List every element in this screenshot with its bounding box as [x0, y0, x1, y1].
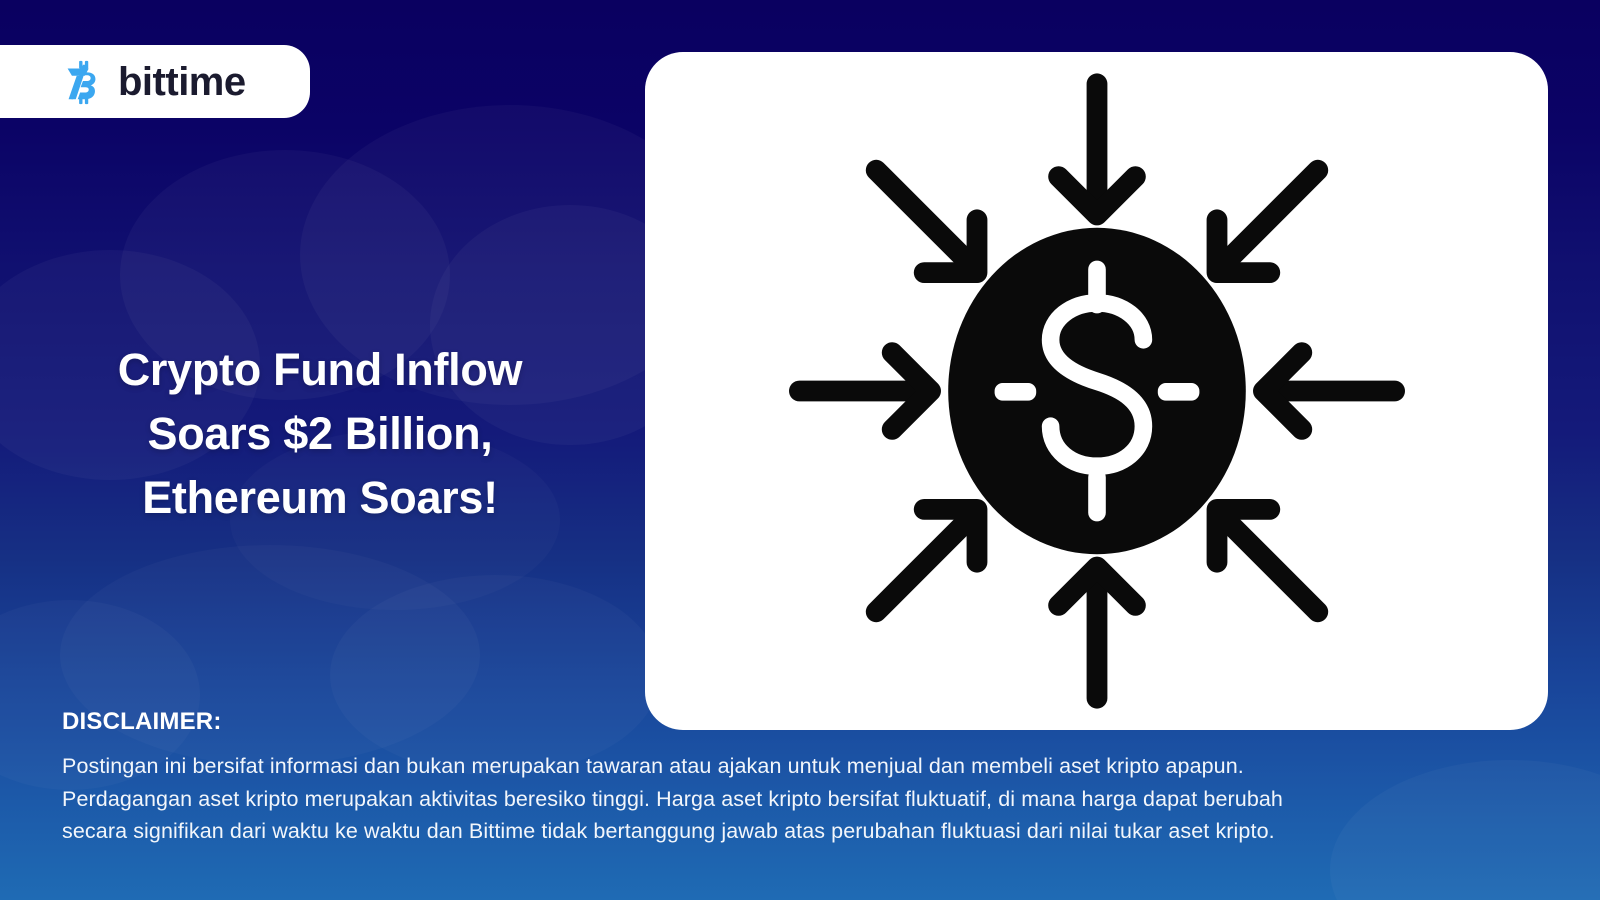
- dash-left-icon: [994, 383, 1036, 401]
- brand-wordmark: bittime: [118, 62, 246, 102]
- disclaimer-line: Postingan ini bersifat informasi dan buk…: [62, 750, 1542, 783]
- disclaimer-line: secara signifikan dari waktu ke waktu da…: [62, 815, 1542, 848]
- crypto-fund-inflow-illustration: [687, 71, 1507, 711]
- arrow-top-left-icon: [876, 170, 977, 272]
- banner-canvas: bittime Crypto Fund Inflow Soars $2 Bill…: [0, 0, 1600, 900]
- arrow-top-right-icon: [1217, 170, 1318, 272]
- arrow-right-icon: [1263, 353, 1394, 430]
- page-title: Crypto Fund Inflow Soars $2 Billion, Eth…: [0, 338, 640, 530]
- brand-logo[interactable]: bittime: [0, 45, 310, 118]
- headline-line-3: Ethereum Soars!: [0, 466, 640, 530]
- dash-right-icon: [1157, 383, 1199, 401]
- arrow-bottom-icon: [1058, 567, 1135, 698]
- disclaimer-line: Perdagangan aset kripto merupakan aktivi…: [62, 783, 1542, 816]
- arrow-bottom-left-icon: [876, 509, 977, 611]
- disclaimer-block: DISCLAIMER: Postingan ini bersifat infor…: [62, 708, 1542, 848]
- headline-line-2: Soars $2 Billion,: [0, 402, 640, 466]
- arrow-left-icon: [799, 353, 930, 430]
- arrow-top-icon: [1058, 84, 1135, 215]
- arrow-bottom-right-icon: [1217, 509, 1318, 611]
- disclaimer-title: DISCLAIMER:: [62, 708, 1542, 736]
- illustration-card: [645, 52, 1548, 730]
- headline-line-1: Crypto Fund Inflow: [0, 338, 640, 402]
- bittime-b-mark-icon: [58, 58, 106, 106]
